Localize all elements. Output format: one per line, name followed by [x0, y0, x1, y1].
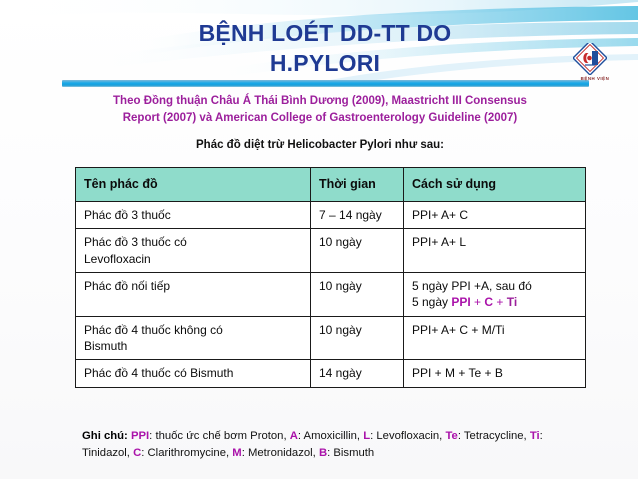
cell-regimen-name: Phác đồ 4 thuốc có Bismuth	[76, 360, 311, 387]
table-row: Phác đồ 4 thuốc có Bismuth14 ngàyPPI + M…	[76, 360, 586, 387]
cell-duration: 10 ngày	[311, 272, 404, 316]
drug-abbr: +	[493, 295, 507, 309]
drug-abbr: PPI	[451, 295, 470, 309]
diamond-logo-icon	[573, 43, 607, 75]
regimen-table: Tên phác đồ Thời gian Cách sử dụng Phác …	[75, 167, 586, 388]
regimen-table-container: Tên phác đồ Thời gian Cách sử dụng Phác …	[75, 167, 585, 388]
cell-regimen-name: Phác đồ nối tiếp	[76, 272, 311, 316]
footnote-text: : Levofloxacin,	[370, 430, 445, 442]
cell-usage: 5 ngày PPI +A, sau đó5 ngày PPI + C + Ti	[404, 272, 586, 316]
cell-regimen-name: Phác đồ 4 thuốc không có Bismuth	[76, 316, 311, 360]
logo-caption: BỆNH VIỆN	[572, 76, 618, 81]
usage-text: PPI+ A+ C + M/Ti	[412, 323, 505, 337]
slide-root: BỆNH LOÉT DD-TT DO H.PYLORI BỆNH VIỆN Th…	[0, 0, 638, 479]
usage-text: PPI + M + Te + B	[412, 366, 503, 380]
footnote-text: : Bismuth	[327, 447, 374, 459]
cell-regimen-name: Phác đồ 3 thuốc có Levofloxacin	[76, 229, 311, 273]
table-row: Phác đồ 4 thuốc không có Bismuth10 ngàyP…	[76, 316, 586, 360]
usage-text: 5 ngày	[412, 295, 451, 309]
usage-line: PPI+ A+ C	[412, 207, 578, 223]
footnote-abbr: Te	[445, 430, 457, 442]
slide-subtitle: Theo Đồng thuận Châu Á Thái Bình Dương (…	[50, 93, 590, 127]
footnote-text: : Amoxicillin,	[298, 430, 363, 442]
header-divider	[62, 80, 589, 87]
cell-usage: PPI+ A+ L	[404, 229, 586, 273]
footnote-abbr: B	[319, 447, 327, 459]
usage-line: PPI+ A+ L	[412, 234, 578, 250]
usage-line: PPI+ A+ C + M/Ti	[412, 322, 578, 338]
column-header-duration: Thời gian	[311, 168, 404, 202]
subtitle-line-1: Theo Đồng thuận Châu Á Thái Bình Dương (…	[50, 93, 590, 110]
cell-usage: PPI + M + Te + B	[404, 360, 586, 387]
cell-usage: PPI+ A+ C + M/Ti	[404, 316, 586, 360]
footnote-abbr: Ti	[530, 430, 540, 442]
usage-text: PPI+ A+ C	[412, 208, 468, 222]
footnote-abbr: M	[232, 447, 241, 459]
footnote-text: : thuốc ức chế bơm Proton,	[149, 430, 290, 442]
footnote-abbr: A	[290, 430, 298, 442]
slide-title: BỆNH LOÉT DD-TT DO H.PYLORI	[100, 18, 550, 79]
footnote-text: : Tetracycline,	[458, 430, 530, 442]
usage-line: 5 ngày PPI +A, sau đó	[412, 278, 578, 294]
cell-regimen-name: Phác đồ 3 thuốc	[76, 202, 311, 229]
column-header-usage: Cách sử dụng	[404, 168, 586, 202]
table-row: Phác đồ 3 thuốc7 – 14 ngàyPPI+ A+ C	[76, 202, 586, 229]
cell-usage: PPI+ A+ C	[404, 202, 586, 229]
regimen-table-body: Phác đồ 3 thuốc7 – 14 ngàyPPI+ A+ CPhác …	[76, 202, 586, 388]
cell-duration: 7 – 14 ngày	[311, 202, 404, 229]
hospital-logo: BỆNH VIỆN	[573, 43, 617, 85]
footnote-abbr: PPI	[131, 430, 149, 442]
cell-duration: 10 ngày	[311, 229, 404, 273]
table-header-row: Tên phác đồ Thời gian Cách sử dụng	[76, 168, 586, 202]
footnote-body: PPI: thuốc ức chế bơm Proton, A: Amoxici…	[82, 430, 543, 459]
cell-duration: 10 ngày	[311, 316, 404, 360]
usage-line: 5 ngày PPI + C + Ti	[412, 294, 578, 310]
usage-text: PPI+ A+ L	[412, 235, 466, 249]
drug-abbr: +	[471, 295, 485, 309]
title-line-1: BỆNH LOÉT DD-TT DO	[100, 18, 550, 48]
title-line-2: H.PYLORI	[100, 48, 550, 78]
usage-text: 5 ngày PPI +A, sau đó	[412, 279, 532, 293]
footnote-label: Ghi chú:	[82, 430, 128, 442]
drug-abbr: Ti	[507, 295, 517, 309]
footnote: Ghi chú: PPI: thuốc ức chế bơm Proton, A…	[82, 428, 582, 462]
table-row: Phác đồ nối tiếp10 ngày5 ngày PPI +A, sa…	[76, 272, 586, 316]
column-header-name: Tên phác đồ	[76, 168, 311, 202]
usage-line: PPI + M + Te + B	[412, 365, 578, 381]
drug-abbr: C	[484, 295, 493, 309]
cell-duration: 14 ngày	[311, 360, 404, 387]
subtitle-line-2: Report (2007) và American College of Gas…	[50, 110, 590, 127]
lead-in-text: Phác đồ diệt trừ Helicobacter Pylori như…	[50, 139, 590, 151]
footnote-text: : Metronidazol,	[242, 447, 319, 459]
table-row: Phác đồ 3 thuốc có Levofloxacin10 ngàyPP…	[76, 229, 586, 273]
footnote-text: : Clarithromycine,	[141, 447, 232, 459]
